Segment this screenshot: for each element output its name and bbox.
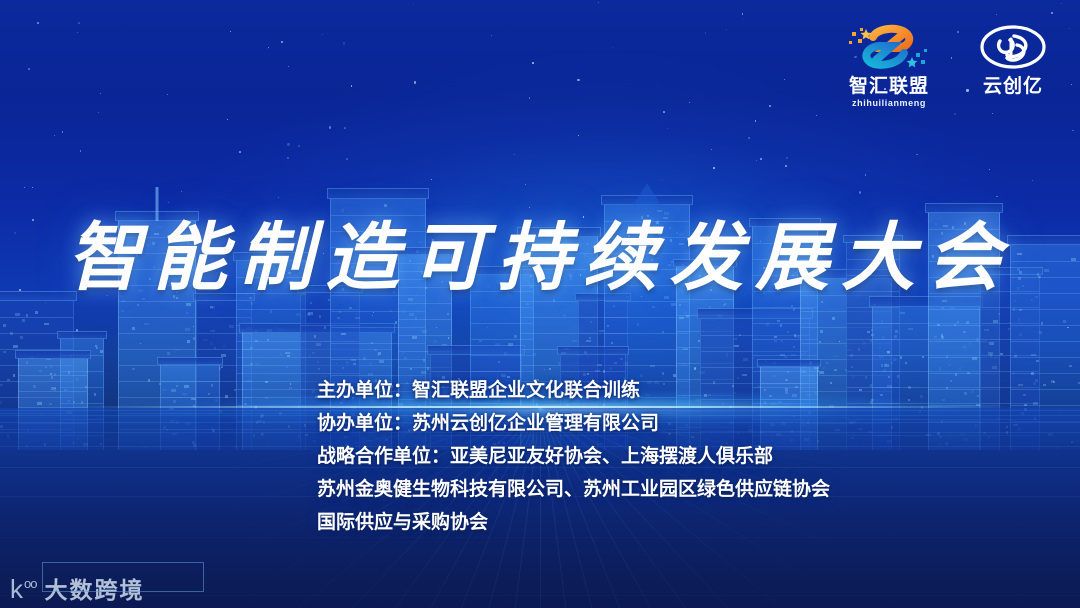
- building-window: [68, 400, 71, 403]
- building-window: [223, 345, 226, 348]
- building-window: [662, 331, 665, 334]
- building-window: [72, 442, 75, 445]
- building-window: [791, 354, 796, 357]
- building-window: [1024, 408, 1027, 411]
- building-window: [193, 405, 196, 408]
- building-window: [267, 339, 270, 342]
- building-floor-line: [197, 413, 251, 414]
- building-cap: [557, 346, 629, 355]
- building-floor-line: [605, 349, 689, 350]
- building-window: [975, 424, 978, 427]
- building-window: [68, 371, 71, 374]
- building-window: [44, 443, 47, 446]
- building-window: [889, 432, 892, 435]
- building-window: [883, 369, 886, 372]
- watermark: k oo 大数跨境: [10, 576, 148, 602]
- building-floor-line: [521, 317, 597, 318]
- building-floor-line: [237, 357, 305, 358]
- building-window: [442, 344, 447, 347]
- building-floor-line: [579, 349, 627, 350]
- building-window: [937, 324, 940, 327]
- building-window: [0, 401, 2, 404]
- building-window: [988, 352, 993, 355]
- building-window: [969, 342, 972, 345]
- building-window: [826, 362, 829, 365]
- building-window: [870, 339, 873, 342]
- building-floor-line: [873, 323, 979, 324]
- building-window: [948, 364, 951, 367]
- building-floor-line: [197, 429, 251, 430]
- building-window: [33, 385, 36, 388]
- building-window: [1013, 424, 1018, 427]
- building-window: [54, 373, 57, 376]
- building-window: [184, 385, 189, 388]
- building-floor-line: [605, 317, 689, 318]
- building-floor-line: [119, 413, 195, 414]
- building-window: [957, 321, 960, 324]
- building-window: [240, 329, 245, 332]
- building-window: [780, 324, 783, 327]
- building-window: [572, 340, 577, 343]
- watermark-logo-icon: k oo: [10, 576, 36, 602]
- building-window: [941, 334, 944, 337]
- building-floor-line: [847, 403, 899, 404]
- building-window: [402, 352, 405, 355]
- building-window: [250, 347, 253, 350]
- building-window: [611, 342, 614, 345]
- building-window: [833, 355, 838, 358]
- building-window: [652, 306, 655, 309]
- building-window: [508, 343, 513, 346]
- building-floor-line: [579, 317, 627, 318]
- building-window: [253, 434, 256, 437]
- building-window: [219, 410, 222, 413]
- building-window: [757, 366, 760, 369]
- building-window: [307, 313, 310, 316]
- building-window: [801, 353, 806, 356]
- building-window: [73, 401, 76, 404]
- building-window: [1021, 412, 1024, 415]
- watermark-outline-box: [42, 562, 204, 592]
- building-cap: [427, 345, 525, 355]
- building-window: [976, 338, 979, 341]
- building-window: [255, 330, 258, 333]
- building-window: [558, 362, 561, 365]
- building-window: [683, 348, 688, 351]
- logo-zhihuilianmeng: 智汇联盟 zhihuilianmeng: [846, 22, 932, 108]
- building-floor-line: [0, 381, 73, 382]
- building-window: [582, 369, 585, 372]
- building-floor-line: [847, 419, 899, 420]
- building-window: [983, 423, 986, 426]
- building-window: [871, 399, 874, 402]
- building-window: [187, 340, 190, 343]
- building-window: [317, 361, 320, 364]
- building-window: [215, 434, 218, 437]
- building-window: [561, 352, 566, 355]
- building-window: [851, 366, 854, 369]
- building-window: [279, 328, 284, 331]
- building-window: [1033, 402, 1038, 405]
- building-floor-line: [801, 343, 891, 344]
- logo-zhihuilianmeng-cn: 智汇联盟: [849, 77, 929, 96]
- building-window: [868, 431, 871, 434]
- building-window: [1033, 382, 1036, 385]
- building-window: [479, 340, 482, 343]
- building-window: [76, 378, 79, 381]
- info-line-host: 主办单位：智汇联盟企业文化联合训练: [317, 374, 830, 407]
- building-cap: [57, 331, 107, 339]
- building-window: [166, 429, 169, 432]
- building-floor-line: [237, 421, 305, 422]
- building-floor-line: [161, 413, 219, 414]
- building-floor-line: [301, 341, 359, 342]
- building-window: [1019, 309, 1022, 312]
- building-window: [888, 376, 891, 379]
- building-window: [447, 313, 450, 316]
- building-window: [787, 371, 790, 374]
- building-window: [939, 367, 942, 370]
- building-window: [415, 317, 418, 320]
- building-window: [863, 342, 866, 345]
- building-window: [997, 417, 1000, 420]
- building-floor-line: [929, 357, 999, 358]
- building-cap: [757, 359, 821, 367]
- building-window: [819, 341, 822, 344]
- building-window: [726, 352, 729, 355]
- building-floor-line: [579, 365, 627, 366]
- building-window: [37, 402, 42, 405]
- building-floor-line: [873, 339, 979, 340]
- building-window: [422, 330, 427, 333]
- building-floor-line: [399, 351, 451, 352]
- logo-yunchuangyi-cn: 云创亿: [983, 77, 1043, 96]
- building-window: [58, 334, 61, 337]
- building-floor-line: [521, 365, 597, 366]
- building-floor-line: [981, 307, 1039, 308]
- building-window: [13, 374, 16, 377]
- page-title: 智能制造可持续发展大会: [0, 198, 1080, 305]
- skyline-building: [196, 300, 252, 450]
- building-floor-line: [301, 357, 359, 358]
- building-cap: [697, 308, 813, 319]
- building-window: [265, 397, 268, 400]
- building-window: [214, 347, 217, 350]
- building-window: [1031, 372, 1034, 375]
- building-floor-line: [237, 373, 305, 374]
- building-floor-line: [1011, 405, 1080, 406]
- building-window: [607, 325, 610, 328]
- building-window: [169, 408, 174, 411]
- building-window: [939, 436, 942, 439]
- building-window: [919, 410, 922, 413]
- building-floor-line: [981, 339, 1039, 340]
- skyline-building: [160, 364, 220, 450]
- building-window: [39, 370, 42, 373]
- building-window: [369, 363, 372, 366]
- building-window: [766, 323, 769, 326]
- building-floor-line: [981, 403, 1039, 404]
- building-window: [210, 409, 213, 412]
- building-floor-line: [929, 405, 999, 406]
- building-floor-line: [873, 387, 979, 388]
- building-window: [896, 358, 899, 361]
- building-window: [847, 349, 852, 352]
- building-floor-line: [929, 341, 999, 342]
- building-window: [967, 372, 970, 375]
- building-window: [427, 367, 430, 370]
- building-window: [242, 435, 245, 438]
- building-window: [100, 350, 103, 353]
- building-floor-line: [1011, 389, 1080, 390]
- building-floor-line: [1011, 325, 1080, 326]
- building-floor-line: [873, 355, 979, 356]
- building-window: [132, 327, 135, 330]
- building-window: [871, 334, 874, 337]
- building-window: [1063, 320, 1066, 323]
- building-window: [363, 357, 366, 360]
- building-window: [850, 354, 853, 357]
- building-floor-line: [561, 371, 625, 372]
- building-window: [1077, 440, 1080, 443]
- building-window: [1055, 447, 1058, 450]
- building-window: [963, 438, 968, 441]
- building-window: [1014, 355, 1017, 358]
- building-window: [1069, 365, 1072, 368]
- ellipse-monogram-logo-icon: [976, 22, 1050, 74]
- building-floor-line: [753, 307, 817, 308]
- building-window: [404, 357, 407, 360]
- building-window: [801, 370, 806, 373]
- building-window: [900, 356, 903, 359]
- building-window: [234, 389, 237, 392]
- building-window: [854, 421, 857, 424]
- building-window: [186, 413, 189, 416]
- building-floor-line: [331, 311, 425, 312]
- building-window: [946, 355, 949, 358]
- building-window: [186, 312, 189, 315]
- building-window: [27, 429, 30, 432]
- building-window: [586, 355, 589, 358]
- building-window: [176, 421, 179, 424]
- building-window: [845, 345, 848, 348]
- building-window: [256, 421, 259, 424]
- building-floor-line: [873, 419, 979, 420]
- building-floor-line: [981, 387, 1039, 388]
- building-window: [908, 386, 911, 389]
- building-window: [402, 310, 405, 313]
- building-floor-line: [61, 371, 103, 372]
- building-window: [280, 353, 283, 356]
- building-window: [353, 363, 356, 366]
- building-floor-line: [605, 365, 689, 366]
- watermark-glyph-oo: oo: [24, 577, 36, 590]
- building-window: [64, 389, 67, 392]
- building-window: [346, 361, 349, 364]
- building-window: [817, 370, 820, 373]
- building-window: [998, 313, 1001, 316]
- building-window: [255, 340, 258, 343]
- building-window: [810, 362, 813, 365]
- building-window: [167, 352, 170, 355]
- building-window: [287, 355, 290, 358]
- building-window: [765, 360, 768, 363]
- building-floor-line: [431, 371, 521, 372]
- building-window: [791, 305, 794, 308]
- building-window: [22, 319, 25, 322]
- building-window: [434, 340, 437, 343]
- building-window: [794, 334, 797, 337]
- building-window: [887, 385, 892, 388]
- building-window: [726, 354, 729, 357]
- building-window: [377, 354, 380, 357]
- building-floor-line: [801, 327, 891, 328]
- building-floor-line: [331, 343, 425, 344]
- building-window: [70, 354, 73, 357]
- building-floor-line: [801, 311, 891, 312]
- building-floor-line: [929, 325, 999, 326]
- building-window: [865, 376, 868, 379]
- building-floor-line: [873, 371, 979, 372]
- building-window: [620, 358, 623, 361]
- building-window: [313, 440, 316, 443]
- building-window: [1034, 417, 1037, 420]
- building-window: [3, 324, 6, 327]
- info-line-partners: 苏州金奥健生物科技有限公司、苏州工业园区绿色供应链协会: [317, 473, 830, 506]
- building-floor-line: [0, 413, 73, 414]
- building-window: [650, 365, 655, 368]
- building-window: [94, 393, 97, 396]
- info-line-cohost: 协办单位：苏州云创亿企业管理有限公司: [317, 407, 830, 440]
- building-window: [533, 353, 536, 356]
- building-floor-line: [237, 389, 305, 390]
- building-window: [1024, 404, 1027, 407]
- building-window: [820, 330, 823, 333]
- building-window: [51, 387, 54, 390]
- watermark-glyph-k: k: [10, 576, 23, 602]
- building-floor-line: [677, 363, 733, 364]
- building-window: [1006, 426, 1009, 429]
- building-window: [13, 345, 18, 348]
- building-window: [100, 443, 103, 446]
- building-window: [192, 441, 195, 444]
- building-window: [992, 366, 997, 369]
- building-window: [584, 351, 587, 354]
- building-window: [863, 444, 866, 447]
- building-floor-line: [0, 333, 73, 334]
- building-window: [867, 331, 870, 334]
- building-floor-line: [301, 325, 359, 326]
- building-floor-line: [119, 317, 195, 318]
- building-window: [803, 371, 806, 374]
- building-floor-line: [753, 355, 817, 356]
- building-window: [1035, 379, 1038, 382]
- building-window: [563, 314, 566, 317]
- building-window: [495, 343, 500, 346]
- building-window: [3, 351, 6, 354]
- building-window: [549, 368, 552, 371]
- building-floor-line: [847, 339, 899, 340]
- building-floor-line: [847, 371, 899, 372]
- building-window: [614, 362, 617, 365]
- building-floor-line: [119, 381, 195, 382]
- building-window: [7, 379, 10, 382]
- building-floor-line: [61, 355, 103, 356]
- building-floor-line: [19, 423, 87, 424]
- building-window: [972, 357, 977, 360]
- building-window: [26, 445, 29, 448]
- swoosh-z-logo-icon: [846, 22, 932, 74]
- building-window: [314, 335, 317, 338]
- building-window: [211, 384, 214, 387]
- building-window: [95, 345, 98, 348]
- building-window: [261, 433, 264, 436]
- building-window: [945, 443, 948, 446]
- building-floor-line: [61, 387, 103, 388]
- building-window: [966, 321, 969, 324]
- building-window: [174, 349, 179, 352]
- building-window: [324, 326, 327, 329]
- building-floor-line: [243, 349, 391, 350]
- building-window: [993, 320, 998, 323]
- building-floor-line: [243, 365, 391, 366]
- building-window: [132, 368, 135, 371]
- building-window: [182, 393, 187, 396]
- building-window: [1018, 427, 1021, 430]
- building-floor-line: [471, 371, 533, 372]
- building-window: [937, 432, 940, 435]
- building-floor-line: [119, 365, 195, 366]
- building-window: [1071, 441, 1074, 444]
- building-floor-line: [0, 365, 73, 366]
- building-floor-line: [1011, 421, 1080, 422]
- building-cap: [239, 323, 395, 333]
- building-window: [143, 446, 146, 449]
- building-window: [171, 389, 176, 392]
- building-floor-line: [197, 397, 251, 398]
- building-window: [0, 425, 3, 428]
- building-window: [305, 434, 308, 437]
- building-window: [1015, 353, 1018, 356]
- building-window: [1053, 381, 1056, 384]
- building-window: [887, 351, 890, 354]
- building-window: [564, 348, 569, 351]
- building-window: [851, 437, 854, 440]
- building-window: [877, 399, 880, 402]
- building-floor-line: [471, 323, 533, 324]
- building-window: [219, 367, 222, 370]
- building-window: [211, 427, 214, 430]
- building-window: [859, 428, 862, 431]
- building-window: [342, 367, 345, 370]
- building-floor-line: [847, 387, 899, 388]
- building-floor-line: [331, 327, 425, 328]
- building-window: [1041, 322, 1044, 325]
- building-window: [879, 347, 882, 350]
- building-window: [930, 376, 933, 379]
- building-window: [81, 401, 84, 404]
- building-window: [379, 360, 384, 363]
- building-window: [942, 399, 945, 402]
- building-window: [312, 352, 315, 355]
- building-window: [954, 324, 957, 327]
- building-window: [926, 434, 931, 437]
- building-window: [389, 310, 392, 313]
- skyline-building: [872, 306, 980, 450]
- building-floor-line: [237, 309, 305, 310]
- building-window: [285, 352, 290, 355]
- building-floor-line: [161, 381, 219, 382]
